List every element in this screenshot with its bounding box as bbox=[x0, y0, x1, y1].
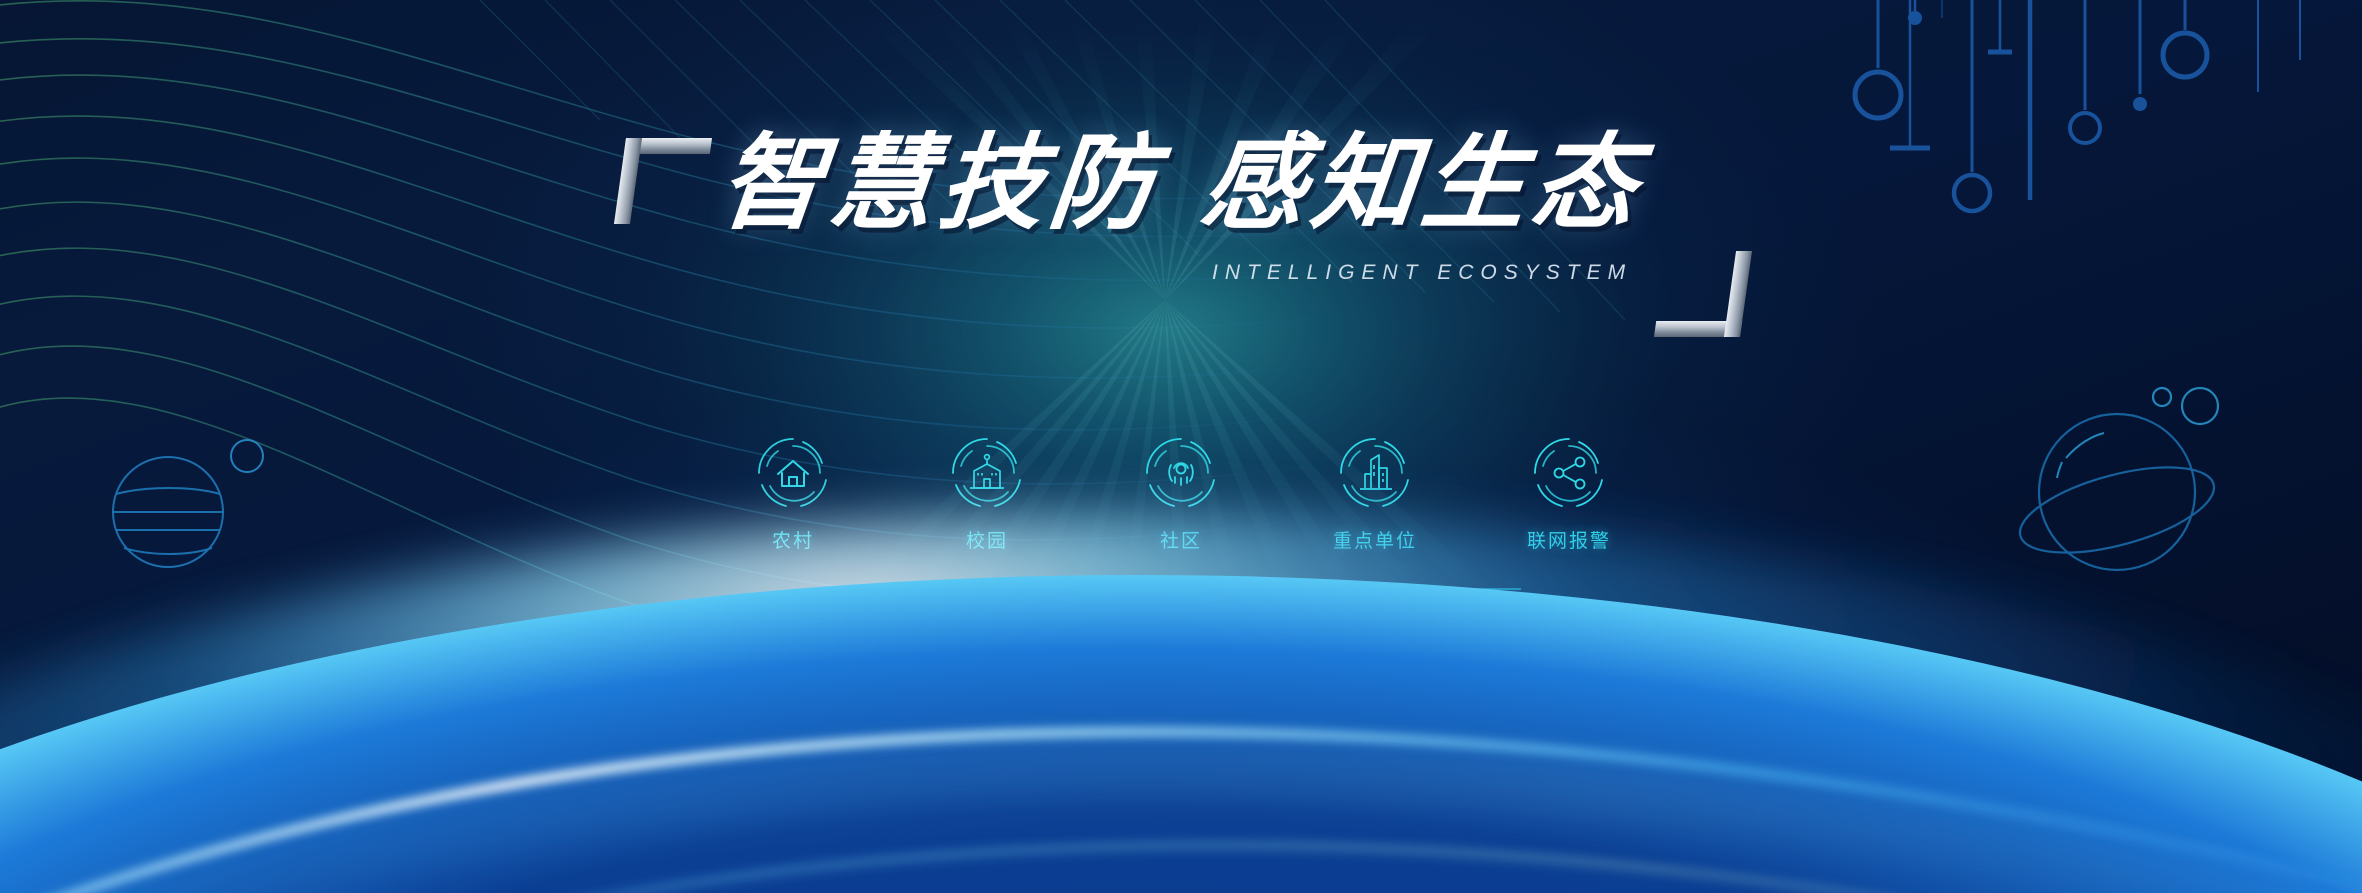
category-label: 社区 bbox=[1118, 526, 1244, 553]
community-emblem-icon bbox=[1144, 436, 1218, 510]
corner-bracket-bottom-right bbox=[1654, 251, 1752, 337]
category-item-campus[interactable]: 校园 bbox=[924, 436, 1050, 553]
skyscraper-icon bbox=[1338, 436, 1412, 510]
category-label: 农村 bbox=[730, 526, 856, 553]
description-line-1: 依托“云大物移AI”，感知城市神经末梢技防数据 bbox=[0, 686, 2362, 725]
corner-bracket-top-left bbox=[614, 138, 712, 224]
category-item-key-units[interactable]: 重点单位 bbox=[1312, 436, 1438, 553]
house-icon bbox=[756, 436, 830, 510]
page-title: 智慧技防 感知生态 bbox=[713, 120, 1649, 247]
category-label: 联网报警 bbox=[1506, 526, 1632, 553]
category-item-community[interactable]: 社区 bbox=[1118, 436, 1244, 553]
description-line-2: 打造了“多手段、多场景、多网络、多应用”的智慧技防体系。 bbox=[0, 739, 2362, 778]
school-building-icon bbox=[950, 436, 1024, 510]
title-block: 智慧技防 感知生态 INTELLIGENT ECOSYSTEM bbox=[0, 120, 2362, 285]
category-item-network-alarm[interactable]: 联网报警 bbox=[1506, 436, 1632, 553]
category-icon-row: 农村 bbox=[0, 436, 2362, 553]
page-subtitle: INTELLIGENT ECOSYSTEM bbox=[720, 261, 1642, 285]
description-block: 依托“云大物移AI”，感知城市神经末梢技防数据 打造了“多手段、多场景、多网络、… bbox=[0, 686, 2362, 778]
banner-root: 智慧技防 感知生态 INTELLIGENT ECOSYSTEM bbox=[0, 0, 2362, 893]
category-label: 重点单位 bbox=[1312, 526, 1438, 553]
category-label: 校园 bbox=[924, 526, 1050, 553]
share-network-icon bbox=[1532, 436, 1606, 510]
category-item-rural[interactable]: 农村 bbox=[730, 436, 856, 553]
v-notch-divider bbox=[831, 578, 1531, 618]
